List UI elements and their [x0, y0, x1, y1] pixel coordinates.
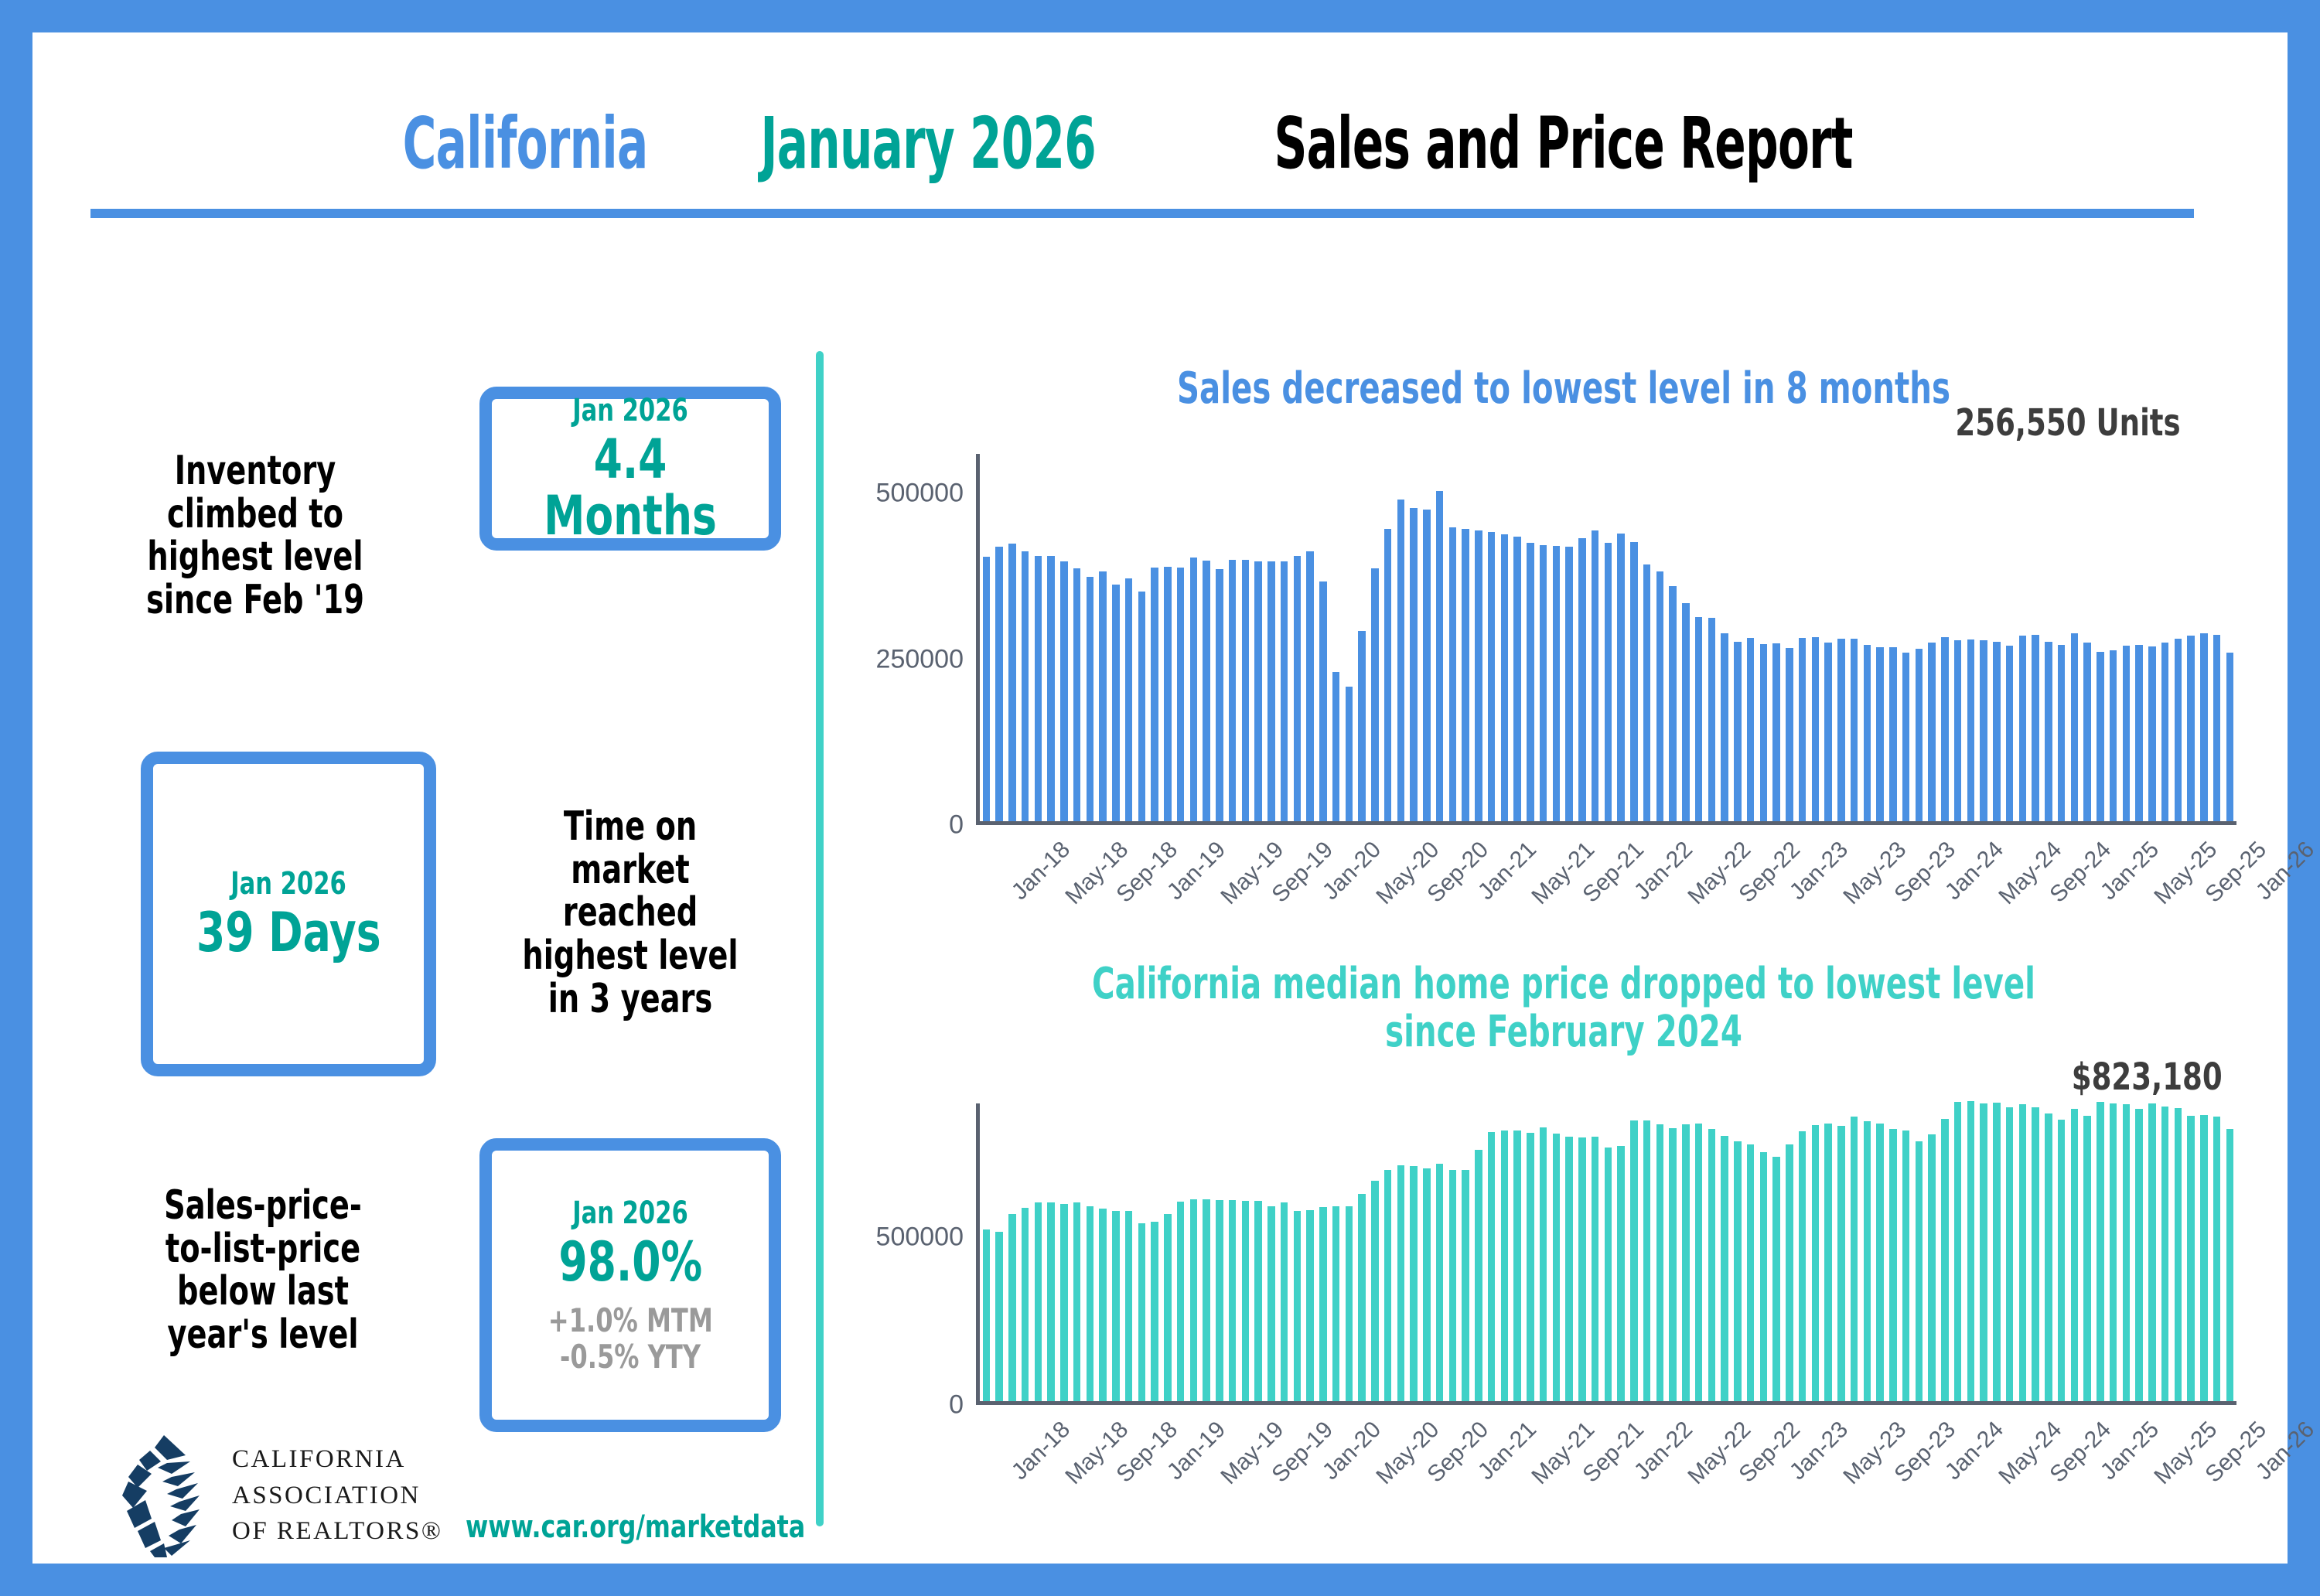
bar	[1358, 1194, 1366, 1401]
bar	[1332, 672, 1340, 821]
bar	[1281, 561, 1288, 821]
bar	[1177, 568, 1185, 821]
title-part-state: California	[403, 102, 648, 185]
stat-sub-yty: -0.5% YTY	[560, 1339, 701, 1375]
bar	[1216, 1200, 1223, 1401]
price-chart-title-line2: since February 2024	[995, 1008, 2133, 1056]
bar	[2148, 646, 2156, 821]
bar	[1760, 1152, 1768, 1401]
bar	[1980, 1103, 1987, 1401]
bar	[2135, 645, 2143, 821]
stat-box-days-on-market[interactable]: Jan 2026 39 Days	[141, 752, 436, 1076]
sales-annotation: 256,550 Units	[1956, 401, 2181, 445]
bar	[1605, 543, 1612, 821]
bar	[1112, 585, 1120, 821]
sales-chart-block: Sales decreased to lowest level in 8 mon…	[852, 365, 2275, 906]
stat-period: Jan 2026	[572, 1195, 688, 1231]
bar	[2006, 1107, 2014, 1401]
bar	[1851, 1117, 1858, 1401]
bar	[1553, 546, 1561, 821]
bar	[1643, 564, 1651, 821]
bar	[1889, 1129, 1897, 1401]
bar	[1423, 510, 1431, 821]
bar	[1397, 500, 1405, 821]
bar	[1410, 508, 1418, 821]
bar	[1721, 633, 1728, 821]
infographic-canvas: California January 2026 Sales and Price …	[32, 32, 2288, 1564]
bar	[1695, 617, 1703, 821]
bar	[1164, 567, 1172, 821]
bar	[1851, 639, 1858, 821]
bar	[1617, 534, 1625, 821]
bar	[2123, 1104, 2131, 1401]
bar	[2123, 646, 2131, 821]
bar	[1501, 1130, 1509, 1401]
bar	[1099, 571, 1107, 821]
bar	[1436, 1164, 1444, 1401]
price-chart-block: California median home price dropped to …	[852, 960, 2275, 1517]
bar	[1513, 537, 1521, 821]
bar	[1734, 642, 1742, 821]
bar	[2058, 645, 2066, 821]
bar	[2071, 1109, 2079, 1401]
bar	[1190, 558, 1198, 821]
bar	[1656, 1124, 1664, 1401]
bar	[1747, 638, 1755, 822]
bar	[1864, 1121, 1871, 1401]
bar	[1708, 1129, 1716, 1401]
bar	[1954, 640, 1962, 821]
stat-period: Jan 2026	[572, 393, 688, 428]
bar	[2097, 1102, 2104, 1401]
blurb-sales-to-list: Sales-price-to-list-price below last yea…	[142, 1185, 384, 1357]
bar	[1449, 527, 1457, 821]
bar	[1941, 637, 1949, 821]
bar	[1047, 556, 1055, 821]
bar	[2200, 633, 2208, 821]
sales-x-labels: Jan-18May-18Sep-18Jan-19May-19Sep-19Jan-…	[980, 837, 2236, 929]
bar	[2161, 1107, 2169, 1401]
bar	[1592, 1137, 1599, 1401]
bar	[1203, 561, 1210, 821]
bar	[1423, 1168, 1431, 1401]
bar	[1916, 1141, 1923, 1401]
bar	[2058, 1120, 2066, 1401]
bar	[1449, 1170, 1457, 1401]
bar	[1358, 631, 1366, 821]
bar	[1475, 1150, 1482, 1401]
bar	[1319, 581, 1327, 821]
bar	[1941, 1119, 1949, 1401]
y-tick-label: 250000	[876, 644, 964, 674]
bar	[1592, 530, 1599, 821]
bar	[2083, 1116, 2091, 1401]
bar	[1371, 1181, 1379, 1401]
bar	[1229, 560, 1237, 821]
bar	[1721, 1136, 1728, 1401]
bar	[1073, 568, 1081, 821]
bar	[1513, 1130, 1521, 1401]
bar	[1954, 1102, 1962, 1401]
bar	[1889, 647, 1897, 821]
bar	[1772, 1157, 1780, 1401]
bar	[2032, 1107, 2039, 1401]
bar	[2213, 635, 2221, 821]
stat-sub-mtm: +1.0% MTM	[548, 1302, 712, 1339]
logo-line-1: CALIFORNIA	[232, 1441, 442, 1478]
bar	[1462, 1170, 1469, 1401]
stat-value: 4.4 Months	[513, 431, 748, 545]
bar	[1993, 642, 2001, 821]
bar	[1047, 1202, 1055, 1401]
bar	[2110, 650, 2117, 821]
bar	[1022, 551, 1029, 821]
bar	[2226, 1129, 2234, 1401]
bar	[2135, 1109, 2143, 1401]
bar	[1151, 1222, 1158, 1401]
bar	[1734, 1141, 1742, 1401]
bar	[1216, 569, 1223, 821]
car-logo: CALIFORNIA ASSOCIATION OF REALTORS®	[116, 1434, 442, 1557]
y-tick-label: 0	[949, 1390, 964, 1420]
bar	[1488, 532, 1496, 821]
bar	[1540, 545, 1547, 821]
bar	[1346, 687, 1353, 821]
stat-value: 98.0%	[558, 1234, 702, 1291]
bar	[1656, 571, 1664, 821]
bar	[1281, 1202, 1288, 1401]
bar	[1475, 530, 1482, 821]
bar	[2032, 635, 2039, 821]
bar	[1151, 568, 1158, 821]
bar	[1138, 1223, 1146, 1401]
bar	[1902, 1130, 1910, 1401]
bar	[1384, 1170, 1392, 1401]
bar	[1125, 1211, 1133, 1401]
bar	[1306, 551, 1314, 821]
bar	[1346, 1206, 1353, 1401]
bar	[1384, 529, 1392, 821]
bar	[983, 557, 991, 821]
bar	[1436, 491, 1444, 821]
car-logo-text: CALIFORNIA ASSOCIATION OF REALTORS®	[232, 1441, 442, 1550]
price-x-labels: Jan-18May-18Sep-18Jan-19May-19Sep-19Jan-…	[980, 1417, 2236, 1509]
price-plot: 0500000 Jan-18May-18Sep-18Jan-19May-19Se…	[976, 1103, 2236, 1405]
bar	[1035, 556, 1042, 821]
bar	[1035, 1202, 1042, 1401]
bar	[1578, 538, 1586, 821]
stat-value: 39 Days	[196, 905, 381, 962]
bar	[1695, 1124, 1703, 1401]
bar	[2187, 1116, 2195, 1401]
bar	[1242, 1201, 1250, 1401]
bar	[1397, 1165, 1405, 1401]
bar	[1993, 1103, 2001, 1401]
bar	[1462, 529, 1469, 821]
bar	[1902, 653, 1910, 821]
bar	[1630, 1120, 1638, 1401]
title-divider	[90, 209, 2194, 218]
bar	[1643, 1120, 1651, 1401]
bar	[1294, 1211, 1302, 1401]
bar	[1060, 561, 1068, 821]
bar	[1772, 643, 1780, 821]
bar	[1229, 1200, 1237, 1401]
infographic-page: California January 2026 Sales and Price …	[0, 0, 2320, 1596]
bar	[1747, 1144, 1755, 1401]
bar	[2071, 633, 2079, 821]
bar	[2226, 653, 2234, 821]
bar	[1824, 1124, 1832, 1401]
bar	[1501, 534, 1509, 821]
bar	[1022, 1208, 1029, 1401]
bar	[2019, 1104, 2027, 1401]
bar	[2097, 652, 2104, 821]
logo-line-3: OF REALTORS®	[232, 1513, 442, 1550]
bar	[995, 1232, 1003, 1401]
bar	[1488, 1132, 1496, 1401]
bar	[1864, 645, 1871, 821]
bar	[983, 1229, 991, 1401]
bar	[1669, 1128, 1677, 1401]
bar	[1527, 1133, 1534, 1401]
price-x-axis	[976, 1401, 2236, 1405]
y-tick-label: 0	[949, 810, 964, 841]
marketdata-url[interactable]: www.car.org/marketdata	[466, 1509, 805, 1545]
price-annotation: $823,180	[2072, 1055, 2223, 1099]
bar	[1306, 1210, 1314, 1401]
bar	[1617, 1146, 1625, 1401]
stat-box-sales-to-list-ratio[interactable]: Jan 2026 98.0% +1.0% MTM -0.5% YTY	[479, 1138, 781, 1432]
bar	[1073, 1202, 1081, 1401]
bar	[1967, 639, 1975, 821]
bar	[1812, 637, 1820, 821]
bar	[1837, 639, 1845, 821]
bar	[1605, 1148, 1612, 1401]
bar	[1682, 1124, 1690, 1401]
bar	[2019, 636, 2027, 821]
bar	[1824, 643, 1832, 821]
bar	[1916, 649, 1923, 821]
bar	[1876, 647, 1884, 821]
y-tick-label: 500000	[876, 1223, 964, 1253]
blurb-inventory: Inventory climbed to highest level since…	[141, 450, 369, 622]
vertical-divider	[816, 351, 824, 1526]
bar	[1371, 568, 1379, 821]
bar	[1980, 640, 1987, 821]
bar	[2187, 636, 2195, 821]
bar	[1267, 561, 1275, 821]
title-part-report: Sales and Price Report	[1274, 102, 1852, 185]
page-title: California January 2026 Sales and Price …	[32, 102, 2288, 185]
bar	[1138, 592, 1146, 821]
sales-x-axis	[976, 821, 2236, 825]
bar	[1242, 560, 1250, 821]
bar	[2045, 1113, 2052, 1401]
bar	[1008, 1214, 1016, 1401]
bar	[1812, 1125, 1820, 1401]
bar	[1203, 1199, 1210, 1401]
bar	[2175, 639, 2182, 821]
bar	[1008, 544, 1016, 821]
bar	[1087, 577, 1094, 821]
bar	[2213, 1117, 2221, 1401]
bar	[1967, 1101, 1975, 1401]
bar	[1682, 603, 1690, 821]
blurb-time-on-market: Time on market reached highest level in …	[507, 806, 754, 1021]
bar	[2148, 1103, 2156, 1401]
bar	[1540, 1127, 1547, 1401]
bar	[1876, 1124, 1884, 1401]
bar	[1087, 1206, 1094, 1401]
bar	[1190, 1199, 1198, 1401]
sales-bars	[980, 454, 2236, 821]
bar	[1799, 638, 1807, 822]
bar	[1837, 1126, 1845, 1401]
bar	[1410, 1166, 1418, 1401]
bar	[2161, 643, 2169, 821]
bar	[1294, 556, 1302, 821]
bar	[1254, 561, 1262, 821]
stat-period: Jan 2026	[230, 866, 346, 902]
bar	[1799, 1131, 1807, 1401]
stat-box-months-supply[interactable]: Jan 2026 4.4 Months	[479, 387, 781, 551]
bar	[2200, 1115, 2208, 1401]
bar	[1267, 1206, 1275, 1401]
price-chart-title: California median home price dropped to …	[995, 960, 2133, 1055]
bar	[1928, 1134, 1936, 1401]
bar	[1786, 648, 1793, 821]
bar	[1177, 1202, 1185, 1401]
bar	[1099, 1209, 1107, 1401]
bar	[1565, 1137, 1573, 1401]
bar	[1928, 643, 1936, 821]
car-logo-mark	[116, 1434, 212, 1557]
bar	[1760, 644, 1768, 821]
bar	[995, 547, 1003, 821]
bar	[2006, 646, 2014, 821]
bar	[1578, 1137, 1586, 1401]
bar	[1553, 1134, 1561, 1401]
bar	[2083, 643, 2091, 821]
bar	[1630, 542, 1638, 821]
bar	[1669, 586, 1677, 822]
bar	[1060, 1204, 1068, 1401]
bar	[1125, 578, 1133, 821]
bar	[1527, 543, 1534, 821]
bar	[1254, 1201, 1262, 1401]
bar	[1112, 1211, 1120, 1401]
bar	[1164, 1214, 1172, 1401]
logo-line-2: ASSOCIATION	[232, 1478, 442, 1514]
bar	[2045, 642, 2052, 821]
bar	[1319, 1207, 1327, 1401]
bar	[2175, 1108, 2182, 1401]
title-part-month: January 2026	[761, 102, 1097, 185]
bar	[1565, 547, 1573, 821]
y-tick-label: 500000	[876, 479, 964, 509]
bar	[1786, 1144, 1793, 1401]
bar	[1708, 618, 1716, 821]
bar	[2110, 1103, 2117, 1401]
bar	[1332, 1206, 1340, 1401]
price-chart-title-line1: California median home price dropped to …	[995, 960, 2133, 1008]
sales-plot: 0250000500000 Jan-18May-18Sep-18Jan-19Ma…	[976, 454, 2236, 825]
price-bars	[980, 1103, 2236, 1401]
